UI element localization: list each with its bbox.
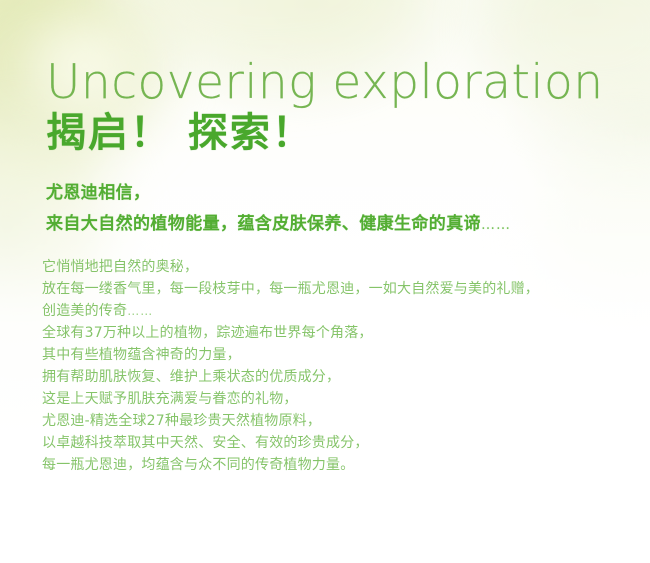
body-line: 每一瓶尤恩迪，均蕴含与众不同的传奇植物力量。	[42, 454, 642, 476]
body-line: 全球有37万种以上的植物，踪迹遍布世界每个角落，	[42, 322, 642, 344]
lede-line-ellipsis: ……	[481, 217, 511, 233]
body-line-text: 放在每一缕香气里，每一段枝芽中，每一瓶尤恩迪，一如大自然爱与美的礼赠，	[42, 281, 539, 297]
body-line: 放在每一缕香气里，每一段枝芽中，每一瓶尤恩迪，一如大自然爱与美的礼赠，	[42, 278, 642, 300]
body-line: 拥有帮助肌肤恢复、维护上乘状态的优质成分，	[42, 366, 642, 388]
body-line: 以卓越科技萃取其中天然、安全、有效的珍贵成分，	[42, 432, 642, 454]
body-line-text: 创造美的传奇	[42, 303, 127, 319]
body-line: 这是上天赋予肌肤充满爱与眷恋的礼物，	[42, 388, 642, 410]
body-line-text: 每一瓶尤恩迪，均蕴含与众不同的传奇植物力量。	[42, 457, 354, 473]
body-line-ellipsis: ……	[127, 304, 153, 318]
lede-line-text: 尤恩迪相信，	[46, 183, 150, 203]
headline-chinese: 揭启！ 探索！	[46, 112, 314, 154]
body-line: 其中有些植物蕴含神奇的力量，	[42, 344, 642, 366]
body-copy-block: 它悄悄地把自然的奥秘， 放在每一缕香气里，每一段枝芽中，每一瓶尤恩迪，一如大自然…	[42, 256, 642, 476]
body-line: 尤恩迪-精选全球27种最珍贵天然植物原料，	[42, 410, 642, 432]
headline-english: Uncovering exploration	[46, 59, 604, 106]
lede-line-text: 来自大自然的植物能量，蕴含皮肤保养、健康生命的真谛	[46, 214, 481, 234]
body-line-text: 其中有些植物蕴含神奇的力量，	[42, 347, 241, 363]
lede-line: 尤恩迪相信，	[46, 178, 646, 209]
lede-line: 来自大自然的植物能量，蕴含皮肤保养、健康生命的真谛……	[46, 209, 646, 240]
body-line-text: 它悄悄地把自然的奥秘，	[42, 259, 198, 275]
promo-poster: Uncovering exploration 揭启！ 探索！ 尤恩迪相信， 来自…	[0, 0, 650, 563]
body-line-text: 全球有37万种以上的植物，踪迹遍布世界每个角落，	[42, 325, 373, 341]
body-line: 它悄悄地把自然的奥秘，	[42, 256, 642, 278]
body-line-text: 尤恩迪-精选全球27种最珍贵天然植物原料，	[42, 413, 321, 429]
body-line: 创造美的传奇……	[42, 300, 642, 322]
lede-block: 尤恩迪相信， 来自大自然的植物能量，蕴含皮肤保养、健康生命的真谛……	[46, 178, 646, 240]
body-line-text: 这是上天赋予肌肤充满爱与眷恋的礼物，	[42, 391, 298, 407]
body-line-text: 以卓越科技萃取其中天然、安全、有效的珍贵成分，	[42, 435, 369, 451]
body-line-text: 拥有帮助肌肤恢复、维护上乘状态的优质成分，	[42, 369, 340, 385]
